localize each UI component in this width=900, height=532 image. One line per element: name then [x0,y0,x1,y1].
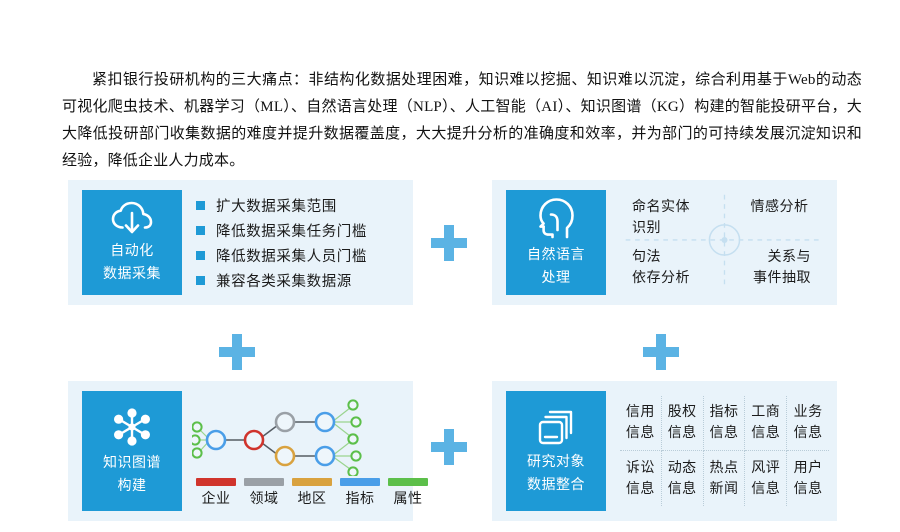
kg-legend-label: 地区 [290,488,334,508]
plus-icon-right-middle [640,331,682,373]
integration-cell-operations: 业务 信息 [787,396,829,451]
kg-legend-item: 地区 [290,478,334,508]
integration-grid: 信用 信息 股权 信息 指标 信息 工商 信息 业务 信息 [620,396,829,506]
kg-swatch-domain [244,478,284,486]
integration-cell-hot-news: 热点 新闻 [704,451,746,506]
kg-legend-label: 企业 [194,488,238,508]
kg-legend-item: 属性 [386,478,430,508]
cell-line1: 业务 [794,402,823,423]
head-profile-icon [537,197,575,239]
integration-cell-user: 用户 信息 [787,451,829,506]
integration-cell-litigation: 诉讼 信息 [620,451,662,506]
cell-line1: 指标 [709,402,738,423]
plus-icon-bottom-middle [428,426,470,468]
integration-title-line2: 数据整合 [527,476,585,495]
kg-body: 企业 领域 地区 指标 属性 [182,381,440,521]
nlp-icon-tile: 自然语言 处理 [506,190,606,295]
kg-swatch-attribute [388,478,428,486]
cell-line2: 信息 [794,479,823,500]
kg-swatch-indicator [340,478,380,486]
cell-line2: 信息 [794,423,823,444]
nlp-quadrant-se-line2: 事件抽取 [753,268,811,289]
cloud-download-icon [111,201,153,235]
cell-line1: 股权 [668,402,697,423]
automation-title-line2: 数据采集 [103,265,161,284]
cell-line2: 信息 [751,479,780,500]
plus-icon-top-middle [428,222,470,264]
nlp-quadrant-ne-line1: 情感分析 [751,197,809,218]
bullet-square-icon [196,201,205,210]
kg-legend: 企业 领域 地区 指标 属性 [192,478,434,508]
integration-cell-business-registration: 工商 信息 [745,396,787,451]
nlp-quadrant-nw-line1: 命名实体 [632,197,690,218]
cell-line1: 工商 [751,402,780,423]
panel-nlp: 自然语言 处理 命名实体 识别 情感分析 [492,180,837,305]
intro-paragraph: 紧扣银行投研机构的三大痛点：非结构化数据处理困难，知识难以挖掘、知识难以沉淀，综… [62,67,862,175]
cell-line2: 信息 [626,479,655,500]
nlp-quadrants: 命名实体 识别 情感分析 句法 依存分析 关系与 事件抽取 [606,180,837,305]
nlp-quadrant-syntax: 句法 依存分析 [620,243,725,295]
panel-automation: 自动化 数据采集 扩大数据采集范围 降低数据采集任务门槛 降低数据采集人员门槛 … [68,180,413,305]
automation-title-line1: 自动化 [110,242,154,261]
list-item-label: 兼容各类采集数据源 [216,270,352,291]
integration-cell-dynamics: 动态 信息 [662,451,704,506]
cell-line1: 用户 [794,458,823,479]
list-item-label: 扩大数据采集范围 [216,195,337,216]
panel-data-integration: 研究对象 数据整合 信用 信息 股权 信息 指标 信息 工商 信息 [492,381,837,521]
nlp-quadrant-named-entity: 命名实体 识别 [620,191,725,243]
nlp-quadrant-relation-event: 关系与 事件抽取 [725,243,830,295]
cell-line1: 热点 [709,458,738,479]
network-hub-icon [111,407,153,447]
kg-swatch-enterprise [196,478,236,486]
integration-title-line1: 研究对象 [527,453,585,472]
nlp-quadrant-sentiment: 情感分析 [725,191,830,243]
nlp-quadrant-nw-line2: 识别 [632,218,661,239]
capability-diagram: 自动化 数据采集 扩大数据采集范围 降低数据采集任务门槛 降低数据采集人员门槛 … [0,168,900,528]
kg-legend-item: 企业 [194,478,238,508]
panel-knowledge-graph: 知识图谱 构建 [68,381,413,521]
stacked-cards-icon [536,408,576,446]
kg-title-line1: 知识图谱 [103,454,161,473]
integration-grid-wrapper: 信用 信息 股权 信息 指标 信息 工商 信息 业务 信息 [606,381,837,521]
nlp-quadrant-sw-line2: 依存分析 [632,268,690,289]
cell-line1: 动态 [668,458,697,479]
list-item-label: 降低数据采集任务门槛 [216,220,367,241]
list-item: 扩大数据采集范围 [196,193,405,218]
list-item: 降低数据采集任务门槛 [196,218,405,243]
kg-title-line2: 构建 [118,477,147,496]
bullet-square-icon [196,251,205,260]
automation-bullet-list: 扩大数据采集范围 降低数据采集任务门槛 降低数据采集人员门槛 兼容各类采集数据源 [182,180,413,305]
automation-icon-tile: 自动化 数据采集 [82,190,182,295]
nlp-title-line1: 自然语言 [527,246,585,265]
kg-legend-label: 属性 [386,488,430,508]
kg-legend-item: 指标 [338,478,382,508]
cell-line2: 信息 [668,423,697,444]
kg-legend-label: 指标 [338,488,382,508]
cell-line1: 信用 [626,402,655,423]
nlp-quadrant-se-line1: 关系与 [768,247,812,268]
integration-cell-equity: 股权 信息 [662,396,704,451]
integration-cell-reputation: 风评 信息 [745,451,787,506]
kg-legend-item: 领域 [242,478,286,508]
cell-line2: 信息 [751,423,780,444]
integration-cell-credit: 信用 信息 [620,396,662,451]
cell-line2: 信息 [709,423,738,444]
list-item: 降低数据采集人员门槛 [196,243,405,268]
bullet-square-icon [196,276,205,285]
list-item: 兼容各类采集数据源 [196,268,405,293]
knowledge-graph-icon-tile: 知识图谱 构建 [82,391,182,511]
bullet-square-icon [196,226,205,235]
list-item-label: 降低数据采集人员门槛 [216,245,367,266]
cell-line2: 信息 [626,423,655,444]
plus-icon-left-middle [216,331,258,373]
nlp-title-line2: 处理 [542,269,571,288]
cell-line2: 信息 [668,479,697,500]
integration-cell-indicator: 指标 信息 [704,396,746,451]
integration-icon-tile: 研究对象 数据整合 [506,391,606,511]
cell-line1: 诉讼 [626,458,655,479]
nlp-quadrant-sw-line1: 句法 [632,247,661,268]
kg-legend-label: 领域 [242,488,286,508]
knowledge-graph-diagram [192,394,434,476]
cell-line1: 风评 [751,458,780,479]
kg-swatch-region [292,478,332,486]
cell-line2: 新闻 [709,479,738,500]
